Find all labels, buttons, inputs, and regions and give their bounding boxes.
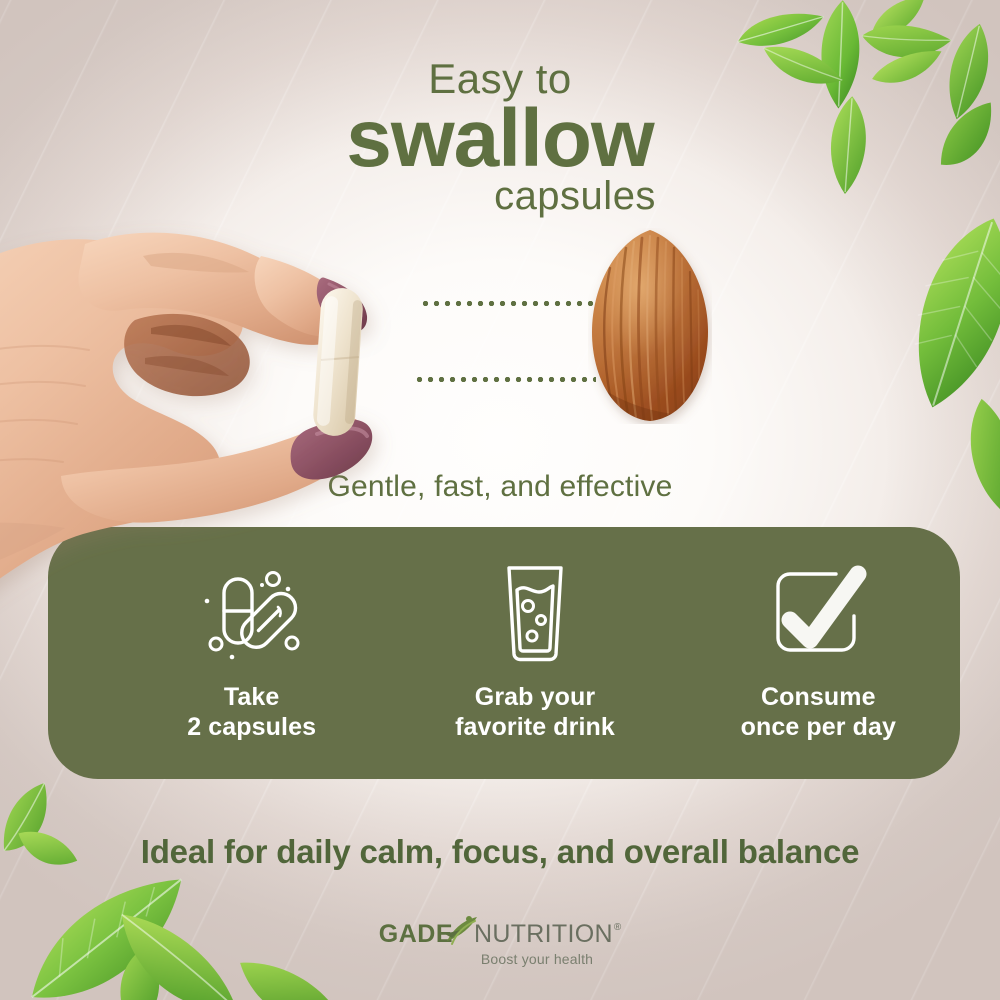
registered-mark: ® bbox=[614, 922, 621, 933]
leaf-icon bbox=[861, 0, 936, 49]
brand-logo: GADE NUTRITION ® Boost your health bbox=[0, 920, 1000, 967]
step-label-line-1: Take bbox=[224, 683, 280, 711]
leaf-icon bbox=[867, 198, 1000, 427]
step-item-take-capsules: Take 2 capsules bbox=[110, 527, 393, 779]
water-glass-icon bbox=[483, 563, 587, 665]
step-label-line-2: 2 capsules bbox=[187, 713, 316, 743]
leaf-person-swoosh-icon bbox=[444, 916, 478, 946]
checkbox-check-icon bbox=[766, 563, 870, 665]
step-label-line-2: favorite drink bbox=[455, 713, 615, 743]
leaf-icon bbox=[732, 2, 830, 60]
size-comparison-line-bottom bbox=[414, 377, 596, 382]
headline-line-2: swallow bbox=[0, 98, 1000, 180]
brand-tagline: Boost your health bbox=[407, 951, 593, 967]
step-label-line-1: Consume bbox=[761, 683, 876, 711]
brand-logo-row: GADE NUTRITION ® bbox=[379, 920, 621, 948]
promo-poster: Easy to swallow capsules bbox=[0, 0, 1000, 1000]
brand-name-light: NUTRITION bbox=[474, 920, 613, 949]
step-item-consume-daily: Consume once per day bbox=[677, 527, 960, 779]
headline: Easy to swallow capsules bbox=[0, 58, 1000, 216]
brand-name-bold: GADE bbox=[379, 920, 453, 949]
size-comparison-line-top bbox=[420, 301, 595, 306]
bottom-tagline: Ideal for daily calm, focus, and overall… bbox=[0, 833, 1000, 871]
step-label-line-2: once per day bbox=[741, 713, 896, 743]
step-item-grab-drink: Grab your favorite drink bbox=[393, 527, 676, 779]
almond-image bbox=[588, 228, 712, 424]
step-label: Consume once per day bbox=[741, 683, 896, 742]
step-label: Take 2 capsules bbox=[187, 683, 316, 742]
step-label-line-1: Grab your bbox=[475, 683, 595, 711]
step-label: Grab your favorite drink bbox=[455, 683, 615, 742]
steps-columns: Take 2 capsules bbox=[110, 527, 960, 779]
capsules-icon bbox=[200, 563, 304, 665]
